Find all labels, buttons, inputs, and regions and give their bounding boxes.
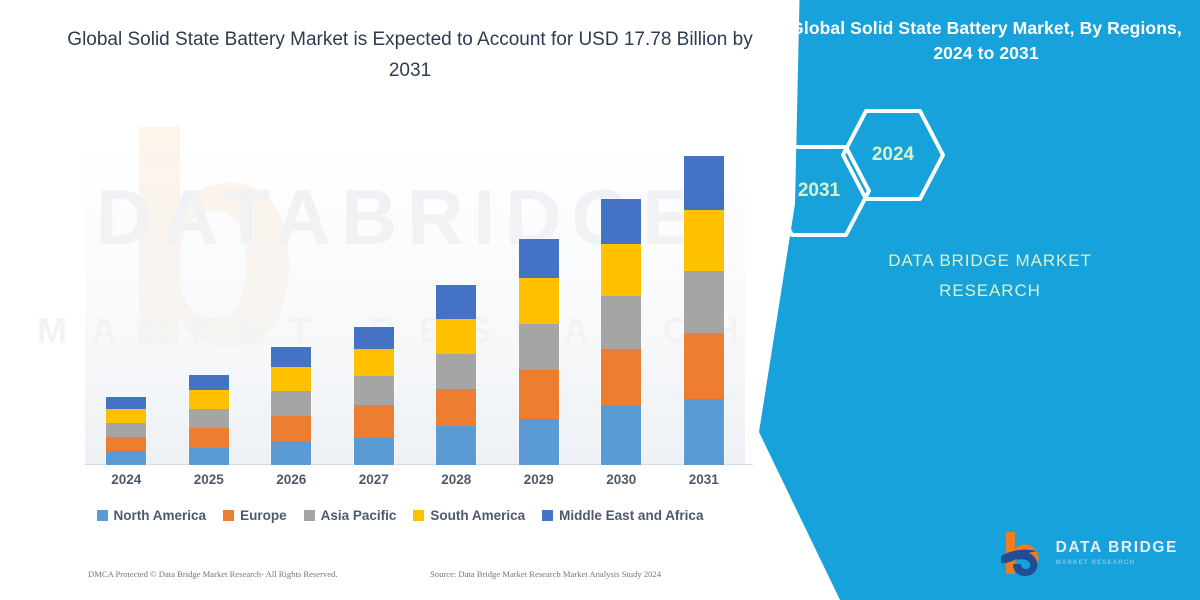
legend-swatch-icon [413,510,424,521]
x-axis-tick-2027: 2027 [339,472,409,487]
x-axis-tick-2031: 2031 [669,472,739,487]
bar-segment-2024-europe [106,437,146,451]
chart-legend: North AmericaEuropeAsia PacificSouth Ame… [0,508,800,523]
bar-segment-2030-asia-pacific [601,296,641,349]
brand-line-2: RESEARCH [790,276,1190,306]
bar-segment-2025-south-america [189,390,229,409]
bar-segment-2030-middle-east-and-africa [601,199,641,244]
bar-segment-2028-europe [436,389,476,426]
bar-2028 [436,285,476,465]
hexagon-badges: 2031 2024 [750,108,1200,228]
bar-segment-2024-middle-east-and-africa [106,397,146,409]
bar-segment-2029-middle-east-and-africa [519,239,559,278]
bar-segment-2026-middle-east-and-africa [271,347,311,367]
logo-wordmark: DATA BRIDGE MARKET RESEARCH [1056,540,1178,566]
legend-swatch-icon [223,510,234,521]
chart-panel: Global Solid State Battery Market is Exp… [0,0,800,600]
x-axis-tick-2029: 2029 [504,472,574,487]
bar-segment-2026-europe [271,416,311,441]
legend-item-middle-east-and-africa[interactable]: Middle East and Africa [542,508,703,523]
legend-item-south-america[interactable]: South America [413,508,525,523]
bar-segment-2024-south-america [106,409,146,423]
bar-segment-2030-south-america [601,244,641,296]
bar-segment-2027-asia-pacific [354,376,394,405]
bar-2031 [684,156,724,465]
bar-segment-2024-asia-pacific [106,423,146,437]
bar-segment-2028-middle-east-and-africa [436,285,476,319]
bar-segment-2025-middle-east-and-africa [189,375,229,390]
logo-name: DATA BRIDGE [1056,540,1178,556]
bar-segment-2025-north-america [189,448,229,465]
brand-line-1: DATA BRIDGE MARKET [790,246,1190,276]
bar-segment-2026-south-america [271,367,311,391]
legend-label: Middle East and Africa [559,508,703,523]
company-logo: DATA BRIDGE MARKET RESEARCH [999,530,1178,576]
footer-copyright: DMCA Protected © Data Bridge Market Rese… [88,569,338,579]
bar-segment-2031-south-america [684,210,724,271]
data-bridge-b-icon [999,530,1047,576]
bar-segment-2027-middle-east-and-africa [354,327,394,349]
bar-2029 [519,239,559,465]
logo-subtitle: MARKET RESEARCH [1056,560,1178,566]
bar-segment-2031-middle-east-and-africa [684,156,724,210]
bar-segment-2028-north-america [436,426,476,465]
bar-segment-2027-north-america [354,438,394,465]
brand-name: DATA BRIDGE MARKET RESEARCH [790,246,1190,306]
bar-2026 [271,347,311,465]
legend-label: Asia Pacific [321,508,397,523]
bar-segment-2027-europe [354,405,394,438]
bar-segment-2026-asia-pacific [271,391,311,416]
x-axis: 20242025202620272028202920302031 [85,472,745,496]
side-panel-title: Global Solid State Battery Market, By Re… [790,16,1182,66]
bar-segment-2029-south-america [519,278,559,324]
legend-label: South America [430,508,525,523]
legend-label: North America [114,508,207,523]
footer-source: Source: Data Bridge Market Research Mark… [430,569,661,579]
bar-segment-2031-north-america [684,399,724,465]
legend-item-europe[interactable]: Europe [223,508,287,523]
bar-segment-2027-south-america [354,349,394,376]
legend-swatch-icon [304,510,315,521]
x-axis-tick-2030: 2030 [586,472,656,487]
bar-2024 [106,397,146,465]
x-axis-tick-2025: 2025 [174,472,244,487]
legend-item-north-america[interactable]: North America [97,508,207,523]
hexagon-label-2024: 2024 [840,108,946,202]
legend-swatch-icon [97,510,108,521]
bar-segment-2028-south-america [436,319,476,354]
x-axis-tick-2028: 2028 [421,472,491,487]
hexagon-badge-2024: 2024 [840,108,946,202]
side-panel: Global Solid State Battery Market, By Re… [750,0,1200,600]
bar-segment-2025-europe [189,428,229,448]
bar-segment-2031-asia-pacific [684,271,724,333]
page-title: Global Solid State Battery Market is Exp… [60,24,760,86]
bar-2025 [189,375,229,465]
bar-segment-2030-europe [601,349,641,406]
x-axis-tick-2024: 2024 [91,472,161,487]
x-axis-tick-2026: 2026 [256,472,326,487]
bar-segment-2031-europe [684,333,724,399]
legend-label: Europe [240,508,287,523]
bar-segment-2029-europe [519,370,559,419]
footer: DMCA Protected © Data Bridge Market Rese… [0,566,800,590]
bars-layer [85,140,745,465]
bar-segment-2030-north-america [601,406,641,465]
bar-segment-2024-north-america [106,451,146,465]
bar-segment-2029-north-america [519,419,559,465]
legend-swatch-icon [542,510,553,521]
legend-item-asia-pacific[interactable]: Asia Pacific [304,508,397,523]
bar-segment-2029-asia-pacific [519,324,559,370]
bar-segment-2028-asia-pacific [436,354,476,389]
bar-segment-2026-north-america [271,441,311,465]
bar-segment-2025-asia-pacific [189,409,229,428]
bar-2030 [601,199,641,465]
bar-2027 [354,327,394,465]
